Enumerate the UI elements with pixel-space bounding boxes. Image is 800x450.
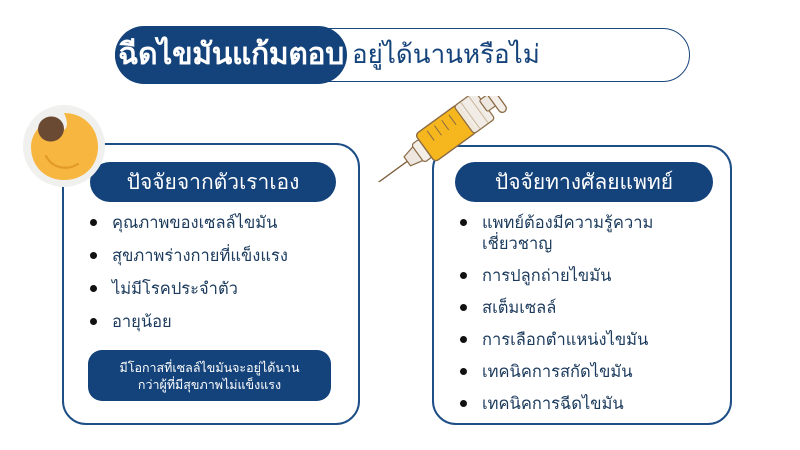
list-item-label: สเต็มเซลล์ (482, 298, 556, 317)
list-item: อายุน้อย (86, 311, 348, 332)
list-item-label: เทคนิคการฉีดไขมัน (482, 394, 624, 413)
note-line-1: มีโอกาสที่เซลล์ไขมันจะอยู่ได้นาน (120, 359, 300, 376)
list-item: สุขภาพร่างกายที่แข็งแรง (86, 245, 348, 266)
fat-cell-icon (22, 104, 106, 188)
list-item: เทคนิคการฉีดไขมัน (456, 393, 718, 414)
list-item: สเต็มเซลล์ (456, 297, 718, 318)
title-question-text: อยู่ได้นานหรือไม่ (352, 42, 540, 68)
list-item-label: การเลือกตำแหน่งไขมัน (482, 330, 648, 349)
card-right-list: แพทย์ต้องมีความรู้ความเชี่ยวชาญ การปลูกถ… (456, 212, 718, 425)
list-item-label: การปลูกถ่ายไขมัน (482, 266, 611, 285)
note-line-2: กว่าผู้ที่มีสุขภาพไม่แข็งแรง (138, 376, 281, 393)
syringe-icon (358, 96, 518, 182)
list-item: แพทย์ต้องมีความรู้ความเชี่ยวชาญ (456, 212, 718, 254)
list-item: ไม่มีโรคประจำตัว (86, 278, 348, 299)
list-item-label: อายุน้อย (112, 312, 172, 331)
card-right-header-text: ปัจจัยทางศัลยแพทย์ (495, 172, 673, 193)
title-highlight-text: ฉีดไขมันแก้มตอบ (118, 40, 344, 70)
card-left-list: คุณภาพของเซลล์ไขมัน สุขภาพร่างกายที่แข็ง… (86, 212, 348, 344)
list-item-label: ไม่มีโรคประจำตัว (112, 279, 238, 298)
list-item-label: เทคนิคการสกัดไขมัน (482, 362, 633, 381)
list-item: การเลือกตำแหน่งไขมัน (456, 329, 718, 350)
title-highlight-pill: ฉีดไขมันแก้มตอบ (115, 26, 347, 84)
list-item: เทคนิคการสกัดไขมัน (456, 361, 718, 382)
card-left-header: ปัจจัยจากตัวเราเอง (90, 162, 336, 202)
list-item-label: คุณภาพของเซลล์ไขมัน (112, 213, 277, 232)
list-item: การปลูกถ่ายไขมัน (456, 265, 718, 286)
card-left-header-text: ปัจจัยจากตัวเราเอง (127, 172, 300, 193)
list-item-label: สุขภาพร่างกายที่แข็งแรง (112, 246, 288, 265)
list-item-label: แพทย์ต้องมีความรู้ความเชี่ยวชาญ (482, 213, 653, 253)
card-left-note-badge: มีโอกาสที่เซลล์ไขมันจะอยู่ได้นาน กว่าผู้… (88, 350, 331, 401)
title-question-container: อยู่ได้นานหรือไม่ (352, 26, 682, 84)
infographic-page: ฉีดไขมันแก้มตอบ อยู่ได้นานหรือไม่ (0, 0, 800, 450)
list-item: คุณภาพของเซลล์ไขมัน (86, 212, 348, 233)
